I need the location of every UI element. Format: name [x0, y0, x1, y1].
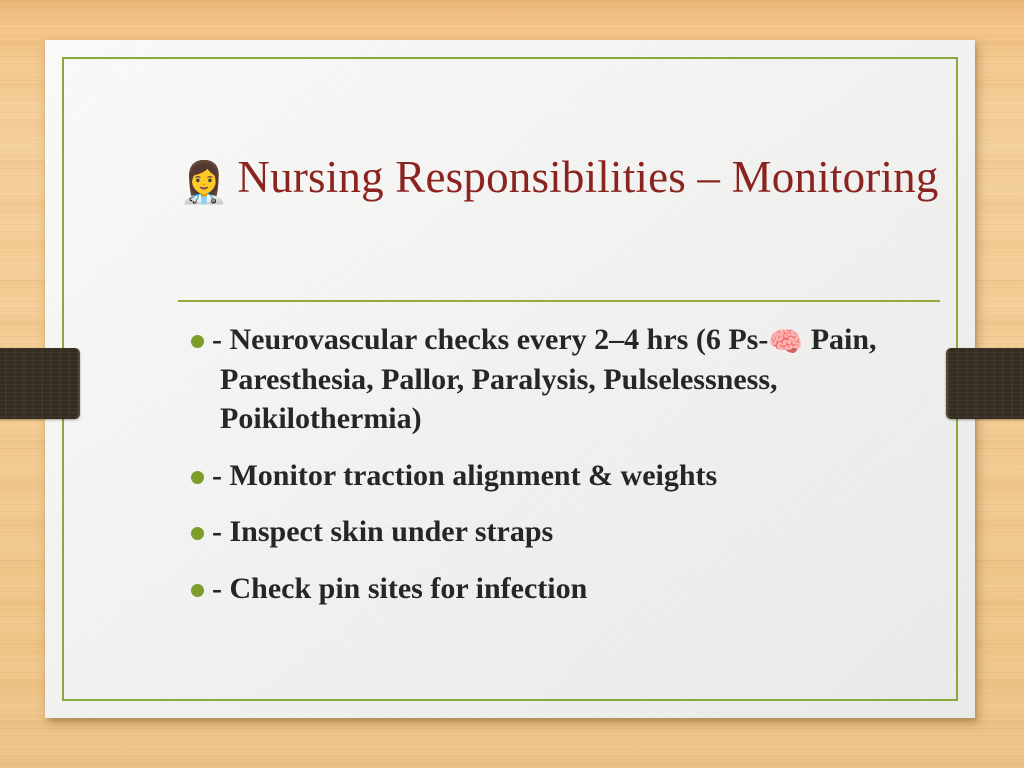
- page-title: 👩‍⚕️Nursing Responsibilities – Monitorin…: [178, 148, 940, 207]
- presentation-slide: 👩‍⚕️Nursing Responsibilities – Monitorin…: [0, 0, 1024, 768]
- title-divider: [178, 300, 940, 302]
- list-item: - Neurovascular checks every 2–4 hrs (6 …: [178, 320, 940, 439]
- list-item-lead-text: - Neurovascular checks every 2–4 hrs (6 …: [212, 323, 768, 356]
- bullet-list: - Neurovascular checks every 2–4 hrs (6 …: [178, 320, 940, 609]
- brain-icon: 🧠: [768, 327, 803, 358]
- right-strap-decoration: [946, 348, 1024, 419]
- left-strap-decoration: [0, 348, 80, 419]
- woman-health-worker-icon: 👩‍⚕️: [179, 160, 229, 205]
- page-title-text: Nursing Responsibilities – Monitoring: [237, 152, 938, 202]
- bullet-dot-icon: [191, 335, 204, 348]
- slide-title-block: 👩‍⚕️Nursing Responsibilities – Monitorin…: [178, 148, 940, 207]
- bullet-dot-icon: [191, 471, 204, 484]
- list-item-lead-text: - Inspect skin under straps: [212, 515, 553, 548]
- bullet-dot-icon: [191, 527, 204, 540]
- list-item: - Check pin sites for infection: [178, 569, 940, 609]
- list-item-lead-text: - Monitor traction alignment & weights: [212, 459, 717, 492]
- list-item: - Monitor traction alignment & weights: [178, 456, 940, 496]
- slide-paper-card: 👩‍⚕️Nursing Responsibilities – Monitorin…: [45, 40, 975, 718]
- bullet-dot-icon: [191, 584, 204, 597]
- list-item: - Inspect skin under straps: [178, 512, 940, 552]
- list-item-lead-text: - Check pin sites for infection: [212, 572, 587, 605]
